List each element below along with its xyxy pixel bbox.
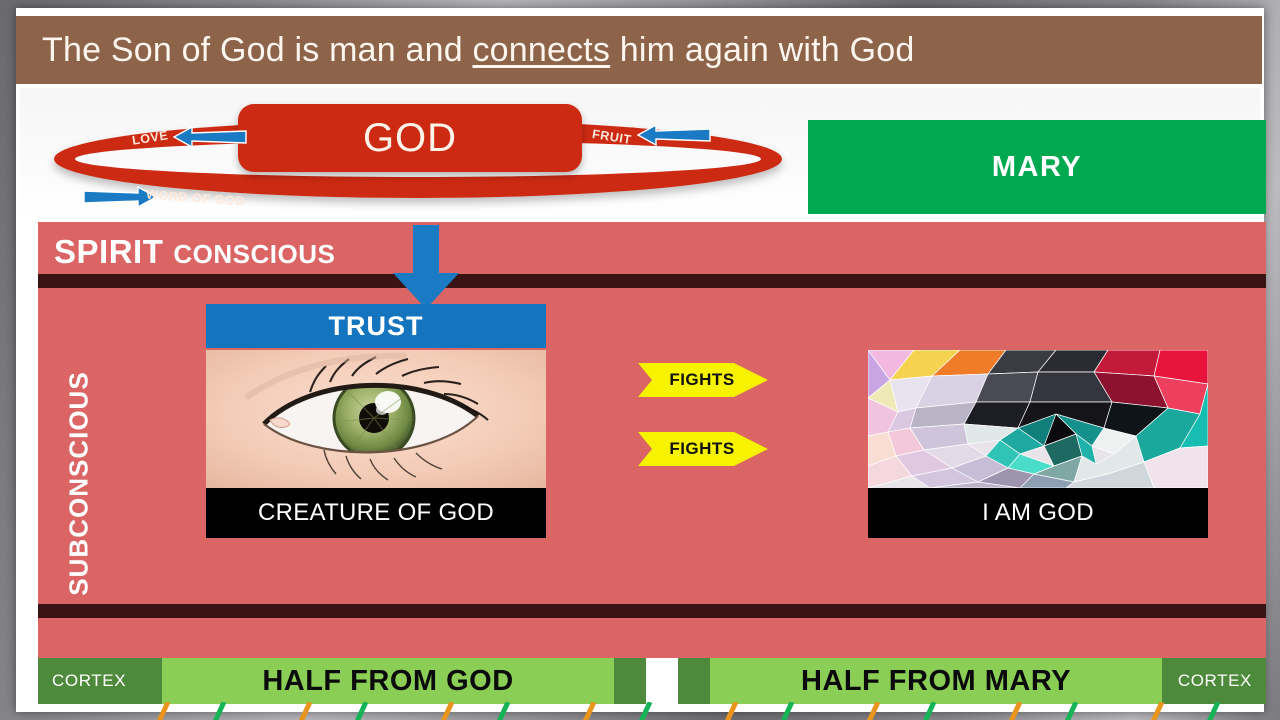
mind-panel: SPIRIT CONSCIOUS SUBCONSCIOUS TRUST: [38, 222, 1266, 658]
title-text-after: him again with God: [610, 31, 914, 69]
god-cycle-diagram: GOD LOVE FRUIT WORD OF GOD: [24, 94, 794, 216]
half-from-mary-block: HALF FROM MARY: [710, 658, 1162, 704]
god-label: GOD: [363, 116, 457, 161]
creature-of-god-label: CREATURE OF GOD: [258, 499, 494, 527]
love-arrow-icon: [172, 126, 248, 148]
nerve-fibers: [38, 702, 1266, 720]
cortex-strip: CORTEX HALF FROM GOD HALF FROM MARY CORT…: [38, 658, 1266, 704]
left-card-caption: CREATURE OF GOD: [206, 488, 546, 538]
fights-arrow-2: FIGHTS: [638, 432, 768, 466]
down-arrow-icon: [391, 225, 461, 310]
cortex-left-label: CORTEX: [52, 671, 126, 691]
cortex-mid-left-block: [614, 658, 646, 704]
half-from-god-block: HALF FROM GOD: [162, 658, 614, 704]
conscious-label: CONSCIOUS: [173, 239, 335, 270]
cortex-right-block: CORTEX: [1162, 658, 1266, 704]
trust-bar: TRUST: [206, 304, 546, 348]
slide-title-bar: The Son of God is man and connects him a…: [16, 16, 1262, 84]
fights-label-2: FIGHTS: [638, 432, 754, 466]
mary-label: MARY: [992, 151, 1082, 184]
mary-box: MARY: [808, 120, 1266, 214]
half-from-god-label: HALF FROM GOD: [262, 665, 513, 698]
spirit-label: SPIRIT: [54, 233, 163, 271]
right-card-caption: I AM GOD: [868, 488, 1208, 538]
slide-canvas: The Son of God is man and connects him a…: [16, 8, 1264, 712]
i-am-god-label: I AM GOD: [982, 499, 1094, 527]
trust-label: TRUST: [329, 311, 424, 342]
cortex-mid-right-block: [678, 658, 710, 704]
page-title: The Son of God is man and connects him a…: [16, 31, 914, 70]
fruit-arrow-icon: [636, 124, 712, 146]
fights-label-1: FIGHTS: [638, 363, 754, 397]
fights-arrow-1: FIGHTS: [638, 363, 768, 397]
conscious-divider-bar: [38, 274, 1266, 288]
cortex-center-gap: [646, 658, 678, 704]
half-from-mary-label: HALF FROM MARY: [801, 665, 1071, 698]
title-text-underlined: connects: [472, 31, 610, 69]
spirit-conscious-heading: SPIRIT CONSCIOUS: [54, 233, 335, 271]
god-center-box: GOD: [238, 104, 582, 172]
subconscious-label: SUBCONSCIOUS: [64, 359, 95, 609]
cortex-left-block: CORTEX: [38, 658, 162, 704]
cortex-right-label: CORTEX: [1178, 671, 1252, 691]
subconscious-divider-bar: [38, 604, 1266, 618]
title-text-before: The Son of God is man and: [42, 31, 472, 69]
low-poly-eye-artwork: [868, 350, 1208, 488]
human-eye-photo: [206, 350, 546, 488]
